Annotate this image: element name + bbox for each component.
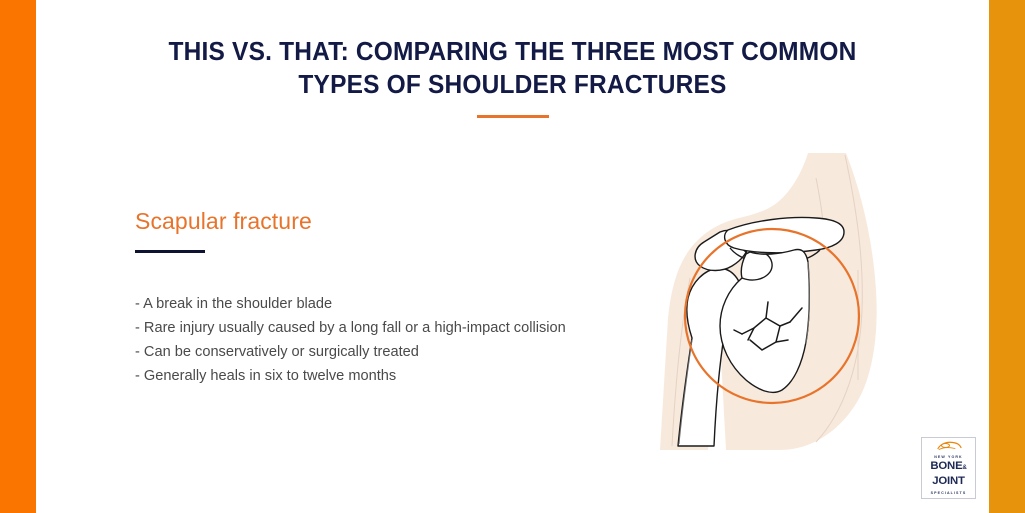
left-accent-bar — [0, 0, 36, 513]
logo-ampersand: & — [962, 465, 966, 471]
logo-line-joint: JOINT — [932, 475, 965, 488]
brand-logo: NEW YORK BONE& JOINT SPECIALISTS — [921, 437, 976, 499]
fracture-facts-list: - A break in the shoulder blade - Rare i… — [135, 292, 635, 388]
page-title: THIS VS. THAT: COMPARING THE THREE MOST … — [136, 36, 890, 102]
title-block: THIS VS. THAT: COMPARING THE THREE MOST … — [120, 36, 905, 102]
list-item: - Generally heals in six to twelve month… — [135, 364, 635, 388]
logo-text-bone: BONE — [930, 460, 962, 472]
logo-line-bone: BONE& — [930, 460, 966, 475]
title-divider — [477, 115, 549, 118]
slide-canvas: THIS VS. THAT: COMPARING THE THREE MOST … — [0, 0, 1025, 513]
list-item: - Can be conservatively or surgically tr… — [135, 340, 635, 364]
bone-swoosh-icon — [936, 441, 962, 452]
right-accent-bar — [989, 0, 1025, 513]
shoulder-anatomy-illustration — [630, 150, 900, 460]
logo-line-specialists: SPECIALISTS — [931, 490, 967, 496]
heading-divider — [135, 250, 205, 253]
content-column: Scapular fracture - A break in the shoul… — [135, 206, 635, 388]
list-item: - A break in the shoulder blade — [135, 292, 635, 316]
section-heading: Scapular fracture — [135, 206, 635, 236]
list-item: - Rare injury usually caused by a long f… — [135, 316, 635, 340]
